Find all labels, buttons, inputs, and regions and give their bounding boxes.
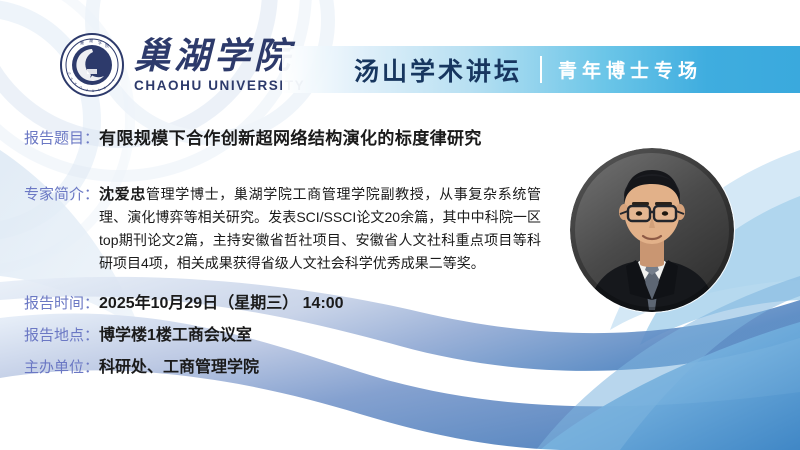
- university-name-en: CHAOHU UNIVERSITY: [134, 78, 305, 93]
- report-title-label: 报告题目：: [24, 128, 99, 150]
- university-name-cn: 巢湖学院: [134, 37, 305, 75]
- report-place-value: 博学楼1楼工商会议室: [99, 325, 252, 347]
- svg-text:院: 院: [105, 42, 109, 48]
- banner-divider: [540, 56, 542, 83]
- forum-subtitle: 青年博士专场: [558, 56, 702, 83]
- university-logo: 巢湖学院 C H A O H U U N I V: [60, 33, 305, 97]
- report-time-value: 2025年10月29日（星期三） 14:00: [99, 293, 344, 315]
- forum-title: 汤山学术讲坛: [354, 52, 522, 88]
- speaker-portrait: [570, 148, 734, 312]
- host-unit-row: 主办单位： 科研处、工商管理学院: [24, 357, 259, 379]
- seminar-poster: 巢湖学院 C H A O H U U N I V: [0, 0, 800, 450]
- svg-text:学: 学: [98, 39, 102, 45]
- report-title-row: 报告题目： 有限规模下合作创新超网络结构演化的标度律研究: [24, 128, 482, 150]
- report-place-row: 报告地点： 博学楼1楼工商会议室: [24, 325, 252, 347]
- speaker-bio-text: 沈爱忠管理学博士，巢湖学院工商管理学院副教授，从事复杂系统管理、演化博弈等相关研…: [99, 183, 541, 275]
- forum-banner: 汤山学术讲坛 青年博士专场: [282, 46, 800, 93]
- host-unit-label: 主办单位：: [24, 357, 99, 379]
- svg-text:湖: 湖: [89, 37, 93, 43]
- host-unit-value: 科研处、工商管理学院: [99, 357, 259, 379]
- chaohu-university-emblem-icon: 巢湖学院 C H A O H U U N I V: [60, 33, 124, 97]
- report-place-label: 报告地点：: [24, 325, 99, 347]
- speaker-bio-detail: 管理学博士，巢湖学院工商管理学院副教授，从事复杂系统管理、演化博弈等相关研究。发…: [99, 186, 541, 271]
- speaker-bio-label: 专家简介：: [24, 183, 99, 206]
- speaker-name: 沈爱忠: [99, 186, 146, 203]
- speaker-bio-row: 专家简介： 沈爱忠管理学博士，巢湖学院工商管理学院副教授，从事复杂系统管理、演化…: [24, 183, 544, 275]
- report-time-row: 报告时间： 2025年10月29日（星期三） 14:00: [24, 293, 344, 315]
- poster-header: 巢湖学院 C H A O H U U N I V: [0, 0, 800, 110]
- report-time-label: 报告时间：: [24, 293, 99, 315]
- svg-text:巢: 巢: [80, 39, 84, 45]
- report-title-value: 有限规模下合作创新超网络结构演化的标度律研究: [99, 128, 482, 150]
